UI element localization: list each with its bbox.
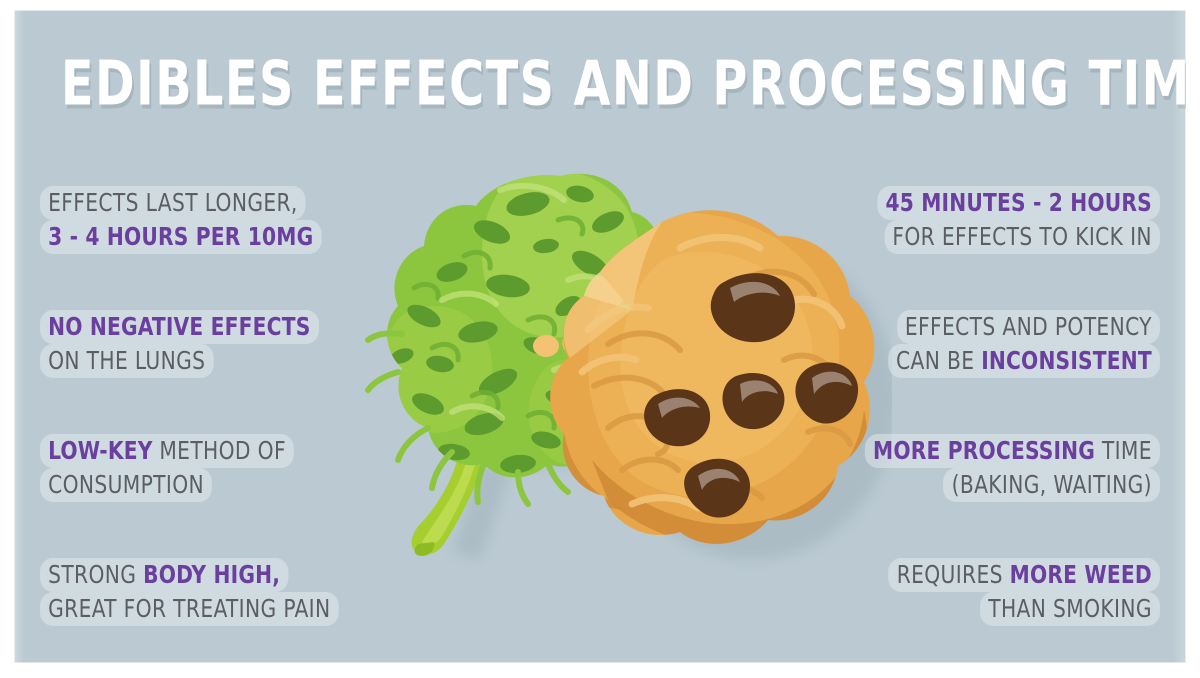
fact-text-accent: BODY HIGH,: [143, 560, 280, 589]
fact-line: ON THE LUNGS: [40, 344, 373, 378]
fact-text-plain: EFFECTS AND POTENCY: [905, 312, 1152, 341]
fact-line: CAN BE INCONSISTENT: [827, 344, 1160, 378]
fact-text-accent: MORE PROCESSING: [873, 436, 1095, 465]
fact-line: REQUIRES MORE WEED: [827, 558, 1160, 592]
right-facts-column: 45 MINUTES - 2 HOURS FOR EFFECTS TO KICK…: [790, 186, 1160, 626]
infographic-poster: EDIBLES EFFECTS AND PROCESSING TIMES: [0, 0, 1200, 678]
fact-inconsistent-potency: EFFECTS AND POTENCY CAN BE INCONSISTENT: [827, 310, 1160, 378]
fact-text-plain: CAN BE: [896, 346, 981, 375]
fact-line: EFFECTS LAST LONGER,: [40, 186, 373, 220]
fact-more-processing-time: MORE PROCESSING TIME (BAKING, WAITING): [827, 434, 1160, 502]
fact-text-plain: THAN SMOKING: [988, 594, 1152, 623]
fact-line: LOW-KEY METHOD OF: [40, 434, 373, 468]
fact-requires-more-weed: REQUIRES MORE WEED THAN SMOKING: [827, 558, 1160, 626]
fact-text-plain: METHOD OF: [153, 436, 286, 465]
poster-canvas: EDIBLES EFFECTS AND PROCESSING TIMES: [14, 10, 1186, 663]
fact-text-accent: 3 - 4 HOURS PER 10MG: [48, 222, 313, 251]
fact-line: EFFECTS AND POTENCY: [827, 310, 1160, 344]
fact-strong-body-high: STRONG BODY HIGH, GREAT FOR TREATING PAI…: [40, 558, 373, 626]
fact-line: GREAT FOR TREATING PAIN: [40, 592, 373, 626]
fact-text-accent: MORE WEED: [1010, 560, 1152, 589]
fact-text-accent: 45 MINUTES - 2 HOURS: [885, 188, 1151, 217]
left-facts-column: EFFECTS LAST LONGER, 3 - 4 HOURS PER 10M…: [40, 186, 410, 626]
fact-text-plain: REQUIRES: [897, 560, 1010, 589]
fact-effects-last-longer: EFFECTS LAST LONGER, 3 - 4 HOURS PER 10M…: [40, 186, 373, 254]
fact-line: NO NEGATIVE EFFECTS: [40, 310, 373, 344]
fact-onset-time: 45 MINUTES - 2 HOURS FOR EFFECTS TO KICK…: [827, 186, 1160, 254]
fact-text-plain: TIME: [1095, 436, 1152, 465]
fact-line: FOR EFFECTS TO KICK IN: [827, 220, 1160, 254]
fact-low-key-method: LOW-KEY METHOD OF CONSUMPTION: [40, 434, 373, 502]
fact-text-plain: GREAT FOR TREATING PAIN: [48, 594, 330, 623]
fact-line: 3 - 4 HOURS PER 10MG: [40, 220, 373, 254]
fact-line: CONSUMPTION: [40, 468, 373, 502]
fact-text-accent: NO NEGATIVE EFFECTS: [48, 312, 310, 341]
fact-line: MORE PROCESSING TIME: [827, 434, 1160, 468]
fact-text-plain: STRONG: [48, 560, 143, 589]
fact-line: 45 MINUTES - 2 HOURS: [827, 186, 1160, 220]
fact-text-plain: ON THE LUNGS: [48, 346, 205, 375]
fact-text-plain: (BAKING, WAITING): [952, 470, 1152, 499]
fact-text-accent: LOW-KEY: [48, 436, 152, 465]
fact-text-plain: FOR EFFECTS TO KICK IN: [892, 222, 1152, 251]
fact-text-plain: EFFECTS LAST LONGER,: [48, 188, 298, 217]
fact-line: STRONG BODY HIGH,: [40, 558, 373, 592]
fact-line: (BAKING, WAITING): [827, 468, 1160, 502]
fact-line: THAN SMOKING: [827, 592, 1160, 626]
fact-text-accent: INCONSISTENT: [981, 346, 1152, 375]
page-title: EDIBLES EFFECTS AND PROCESSING TIMES: [61, 54, 1139, 115]
fact-text-plain: CONSUMPTION: [48, 470, 204, 499]
fact-no-negative-effects: NO NEGATIVE EFFECTS ON THE LUNGS: [40, 310, 373, 378]
